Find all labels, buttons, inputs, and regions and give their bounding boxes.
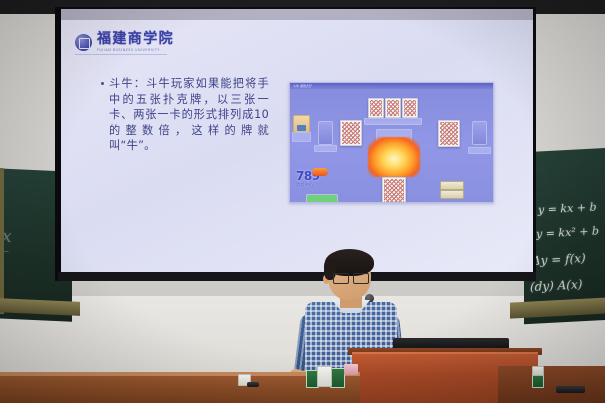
chalk-equation-2: y = kx² + b bbox=[536, 224, 599, 240]
desk-item-pink-box bbox=[344, 364, 358, 375]
desk-item-green-box bbox=[330, 368, 345, 388]
game-status-panel bbox=[306, 194, 338, 203]
game-seat bbox=[472, 121, 487, 145]
lecture-hall-photo: x — y = kx + b y = kx² + b Δy = f(x) (dy… bbox=[0, 0, 605, 403]
game-card bbox=[385, 98, 401, 118]
institution-name-cn: 福建商学院 bbox=[97, 32, 174, 46]
card-face bbox=[342, 122, 360, 144]
card-face bbox=[370, 100, 382, 116]
institution-logo: 福建商学院 FUJIAN BUSINESS UNIVERSITY bbox=[75, 32, 174, 52]
game-card bbox=[382, 177, 406, 203]
game-card bbox=[368, 98, 384, 118]
bullet-dot-icon bbox=[101, 82, 104, 85]
desk-right bbox=[498, 366, 605, 403]
chalk-equation-3: Δy = f(x) bbox=[532, 251, 586, 268]
game-card bbox=[340, 120, 362, 146]
slide-bullet: 斗牛：斗牛玩家如果能把将手中的五张扑克牌，以三张一卡、两张一卡的形式排列成10的… bbox=[101, 76, 269, 154]
game-action-button[interactable] bbox=[440, 190, 464, 199]
card-face bbox=[387, 100, 399, 116]
desk-item-shadow bbox=[247, 382, 259, 387]
game-action-button[interactable] bbox=[440, 181, 464, 190]
game-seat bbox=[318, 121, 333, 145]
game-player-avatar bbox=[293, 115, 310, 133]
game-player-name-plate bbox=[292, 132, 311, 142]
game-info-panel bbox=[364, 118, 422, 125]
desk-item-remote bbox=[556, 386, 585, 393]
explosion-effect-icon bbox=[368, 137, 420, 177]
logo-underline bbox=[75, 54, 167, 55]
chalk-equation-4: (dy) A(x) bbox=[530, 277, 582, 294]
game-card bbox=[402, 98, 418, 118]
desk-item-white-box-right bbox=[532, 366, 544, 376]
card-face bbox=[404, 100, 416, 116]
glasses-icon bbox=[333, 273, 369, 283]
game-seat-label bbox=[468, 147, 491, 154]
game-seat-label bbox=[314, 145, 337, 152]
shield-emblem-icon bbox=[75, 34, 92, 51]
slide-bullet-text: 斗牛：斗牛玩家如果能把将手中的五张扑克牌，以三张一卡、两张一卡的形式排列成10的… bbox=[109, 76, 269, 154]
game-chip-icon bbox=[312, 168, 328, 176]
game-card bbox=[438, 120, 460, 147]
institution-name-en: FUJIAN BUSINESS UNIVERSITY bbox=[97, 48, 174, 52]
card-face bbox=[440, 122, 458, 145]
card-face bbox=[384, 179, 404, 202]
projection-screen-bottom-bar bbox=[58, 272, 536, 281]
card-game-screenshot: 斗牛 游戏大厅 bbox=[289, 82, 494, 203]
game-table-felt: 789 游戏中心 bbox=[290, 89, 493, 202]
presentation-slide: 福建商学院 FUJIAN BUSINESS UNIVERSITY 斗牛：斗牛玩家… bbox=[61, 20, 533, 274]
institution-logo-text: 福建商学院 FUJIAN BUSINESS UNIVERSITY bbox=[97, 32, 174, 52]
projection-screen: 福建商学院 FUJIAN BUSINESS UNIVERSITY 斗牛：斗牛玩家… bbox=[61, 9, 533, 274]
blackboard-left-post bbox=[0, 168, 4, 314]
desk-item-white-box bbox=[317, 366, 332, 387]
chalk-equation-1: y = kx + b bbox=[538, 200, 597, 216]
